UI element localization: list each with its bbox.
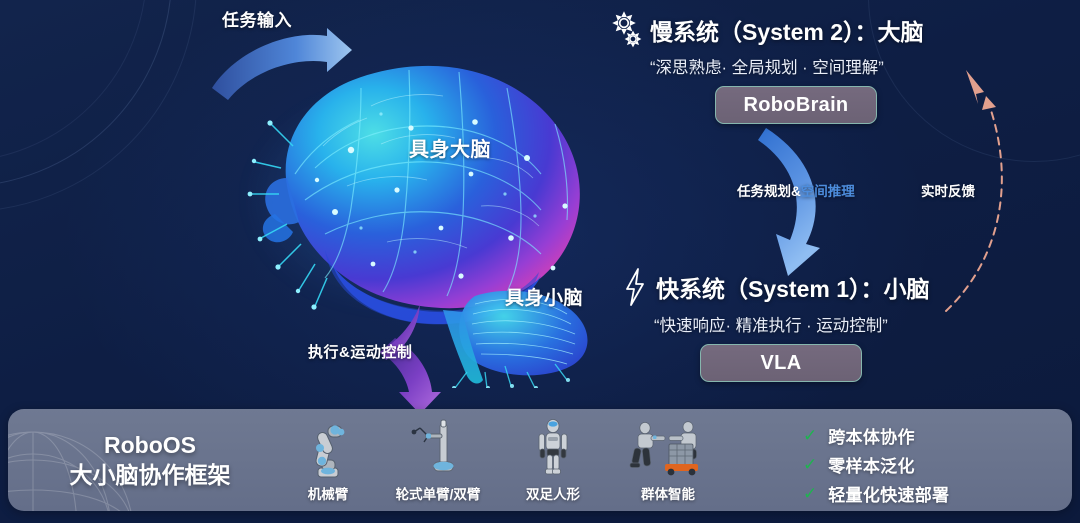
roboos-brand: RoboOS 大小脑协作框架 bbox=[40, 431, 260, 490]
feature-item: ✓ 零样本泛化 bbox=[803, 450, 949, 479]
feature-label: 跨本体协作 bbox=[828, 423, 915, 448]
feature-label: 轻量化快速部署 bbox=[828, 481, 949, 506]
robobrain-pill[interactable]: RoboBrain bbox=[715, 86, 877, 124]
robot-arm-icon bbox=[268, 418, 388, 480]
humanoid-icon bbox=[493, 418, 613, 480]
embodied-cerebrum-label: 具身大脑 bbox=[409, 133, 491, 162]
task-planning-text: 任务规划& bbox=[737, 184, 801, 199]
system-1-subtitle: “快速响应· 精准执行 · 运动控制” bbox=[654, 312, 1002, 336]
system-1-block: 快系统（System 1）：小脑 “快速响应· 精准执行 · 运动控制” VLA bbox=[622, 266, 1002, 382]
system-1-header: 快系统（System 1）：小脑 bbox=[622, 266, 1002, 308]
system-2-title: 慢系统（System 2）：大脑 bbox=[650, 13, 924, 47]
swarm-caption: 群体智能 bbox=[608, 483, 728, 503]
task-input-label: 任务输入 bbox=[222, 6, 292, 31]
lightning-icon bbox=[622, 266, 648, 308]
system2-to-system1-arrow bbox=[758, 128, 820, 276]
check-icon: ✓ bbox=[803, 485, 817, 502]
system-2-header: 慢系统（System 2）：大脑 bbox=[612, 10, 1012, 50]
slide-canvas: 任务输入 执行&运动控制 具身大脑 具身小脑 任务规划&空间推理 实时反馈 bbox=[0, 0, 1080, 523]
vla-pill[interactable]: VLA bbox=[700, 344, 862, 382]
system-2-block: 慢系统（System 2）：大脑 “深思熟虑· 全局规划 · 空间理解” Rob… bbox=[612, 10, 1012, 124]
roboos-tagline: 大小脑协作框架 bbox=[40, 460, 260, 490]
embodied-cerebellum-label: 具身小脑 bbox=[505, 283, 583, 310]
robot-arm-caption: 机械臂 bbox=[268, 483, 388, 503]
brain-graphic bbox=[175, 28, 615, 388]
check-icon: ✓ bbox=[803, 456, 817, 473]
feature-item: ✓ 轻量化快速部署 bbox=[803, 479, 949, 508]
gears-icon bbox=[612, 10, 642, 50]
robot-category-wheeled-arm[interactable]: 轮式单臂/双臂 bbox=[378, 418, 498, 503]
brain-illustration bbox=[175, 28, 615, 388]
swarm-icon bbox=[608, 418, 728, 480]
robot-category-swarm[interactable]: 群体智能 bbox=[608, 418, 728, 503]
wheeled-arm-caption: 轮式单臂/双臂 bbox=[378, 483, 498, 503]
system-1-title: 快系统（System 1）：小脑 bbox=[656, 270, 930, 304]
robot-category-humanoid[interactable]: 双足人形 bbox=[493, 418, 613, 503]
realtime-feedback-label: 实时反馈 bbox=[921, 180, 975, 200]
check-icon: ✓ bbox=[803, 427, 817, 444]
feature-list: ✓ 跨本体协作 ✓ 零样本泛化 ✓ 轻量化快速部署 bbox=[803, 421, 949, 508]
feature-item: ✓ 跨本体协作 bbox=[803, 421, 949, 450]
feature-label: 零样本泛化 bbox=[828, 452, 915, 477]
robot-category-robot-arm[interactable]: 机械臂 bbox=[268, 418, 388, 503]
spatial-reasoning-text: 空间推理 bbox=[801, 184, 855, 199]
system-2-subtitle: “深思熟虑· 全局规划 · 空间理解” bbox=[650, 54, 1012, 78]
wheeled-arm-icon bbox=[378, 418, 498, 480]
execution-label: 执行&运动控制 bbox=[308, 341, 412, 362]
humanoid-caption: 双足人形 bbox=[493, 483, 613, 503]
roboos-name: RoboOS bbox=[40, 431, 260, 460]
task-planning-label: 任务规划&空间推理 bbox=[737, 180, 855, 200]
